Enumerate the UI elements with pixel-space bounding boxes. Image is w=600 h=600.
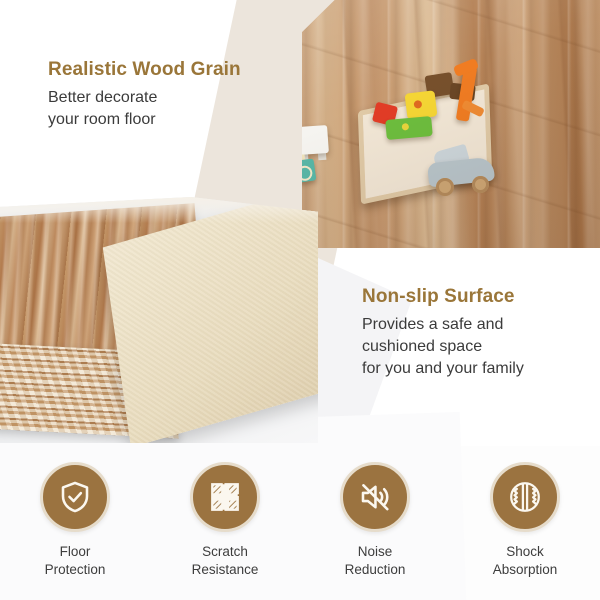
- speaker-muted-icon: [340, 462, 410, 532]
- photo-wood-floor-with-toys: [302, 0, 600, 248]
- benefit-label: Noise Reduction: [345, 543, 406, 579]
- benefit-floor-protection: Floor Protection: [5, 462, 145, 579]
- benefit-shock-absorption: Shock Absorption: [455, 462, 595, 579]
- benefit-label: Shock Absorption: [493, 543, 558, 579]
- photo-lighting-overlay: [302, 0, 600, 248]
- feature-text-wood-grain: Realistic Wood Grain Better decorate you…: [48, 60, 298, 131]
- photo-foam-tile-stack: [0, 197, 318, 443]
- benefit-icon-row: Floor Protection Scratch Resi: [0, 462, 600, 600]
- benefit-label: Floor Protection: [45, 543, 106, 579]
- shield-check-icon: [40, 462, 110, 532]
- non-slip-heading: Non-slip Surface: [362, 287, 592, 308]
- feature-text-non-slip: Non-slip Surface Provides a safe and cus…: [362, 287, 592, 380]
- wood-grain-heading: Realistic Wood Grain: [48, 60, 298, 81]
- infographic-canvas: Realistic Wood Grain Better decorate you…: [0, 0, 600, 600]
- interlocking-tile-hatch-icon: [190, 462, 260, 532]
- non-slip-line-1: Provides a safe and: [362, 314, 592, 336]
- non-slip-line-2: cushioned space: [362, 336, 592, 358]
- non-slip-line-3: for you and your family: [362, 358, 592, 380]
- benefit-label: Scratch Resistance: [192, 543, 259, 579]
- benefit-noise-reduction: Noise Reduction: [305, 462, 445, 579]
- wood-grain-line-1: Better decorate: [48, 87, 298, 109]
- wood-grain-line-2: your room floor: [48, 109, 298, 131]
- benefit-scratch-resistance: Scratch Resistance: [155, 462, 295, 579]
- shock-spring-circle-icon: [490, 462, 560, 532]
